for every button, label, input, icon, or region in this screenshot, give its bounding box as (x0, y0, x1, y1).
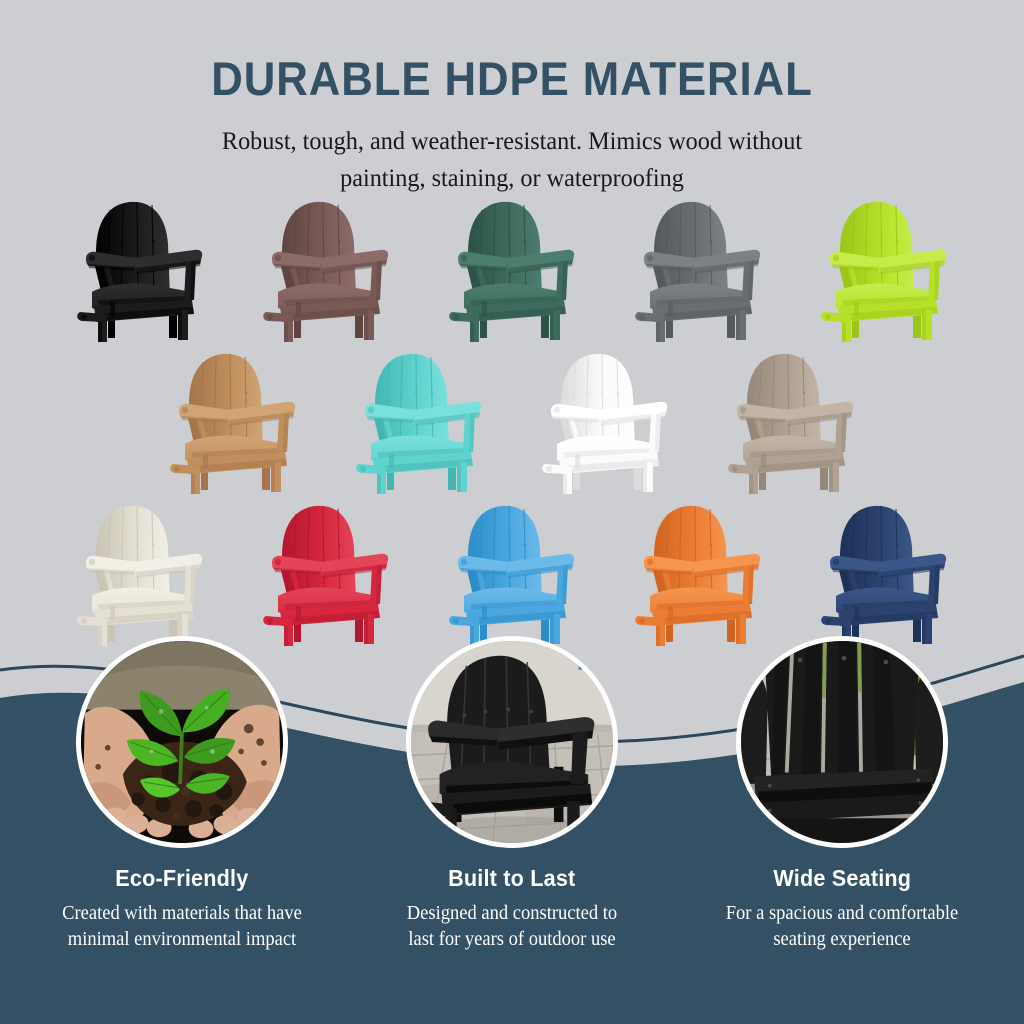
feature-description: For a spacious and comfortableseating ex… (700, 901, 985, 953)
feature-image-circle (406, 636, 618, 848)
chair-graphic-lime-green (818, 196, 950, 344)
feature-description: Designed and constructed tolast for year… (370, 901, 655, 953)
page-subtitle: Robust, tough, and weather-resistant. Mi… (26, 123, 999, 195)
feature-image-circle (736, 636, 948, 848)
chair-graphic-black (74, 196, 206, 344)
feature-title: Wide Seating (773, 865, 911, 892)
chair-graphic-red (260, 500, 392, 648)
chair-row-3 (0, 500, 1024, 648)
seedling-in-hands-illustration (81, 641, 283, 843)
subtitle-line-1: Robust, tough, and weather-resistant. Mi… (26, 123, 999, 159)
chair-row-1 (0, 196, 1024, 344)
feature-list: Eco-FriendlyCreated with materials that … (0, 636, 1024, 953)
chair-swatch-orange[interactable] (605, 500, 791, 648)
feature-built-to-last: Built to LastDesigned and constructed to… (368, 636, 656, 953)
infographic-poster: DURABLE HDPE MATERIAL Robust, tough, and… (0, 0, 1024, 1024)
chair-swatch-black[interactable] (47, 196, 233, 344)
feature-desc-line-1: For a spacious and comfortable (700, 901, 985, 927)
chair-graphic-dark-green (446, 196, 578, 344)
chair-graphic-ivory (74, 500, 206, 648)
chair-graphic-blue (446, 500, 578, 648)
chair-swatch-dark-brown[interactable] (233, 196, 419, 344)
feature-desc-line-2: minimal environmental impact (40, 927, 325, 953)
chair-swatch-weathered-wood[interactable] (698, 348, 884, 496)
chair-graphic-navy-blue (818, 500, 950, 648)
feature-title: Built to Last (448, 865, 575, 892)
feature-title: Eco-Friendly (115, 865, 248, 892)
chair-graphic-turquoise (353, 348, 485, 496)
chair-swatch-blue[interactable] (419, 500, 605, 648)
header: DURABLE HDPE MATERIAL Robust, tough, and… (0, 0, 1024, 196)
feature-image-circle (76, 636, 288, 848)
chair-row-2 (0, 348, 1024, 496)
chair-graphic-orange (632, 500, 764, 648)
chair-swatch-gray[interactable] (605, 196, 791, 344)
feature-desc-line-1: Designed and constructed to (370, 901, 655, 927)
feature-desc-line-1: Created with materials that have (40, 901, 325, 927)
chair-swatch-red[interactable] (233, 500, 419, 648)
chair-swatch-ivory[interactable] (47, 500, 233, 648)
chair-swatch-white[interactable] (512, 348, 698, 496)
chair-graphic-white (539, 348, 671, 496)
feature-eco-friendly: Eco-FriendlyCreated with materials that … (38, 636, 326, 953)
feature-desc-line-2: seating experience (700, 927, 985, 953)
chair-graphic-weathered-wood (725, 348, 857, 496)
chair-graphic-dark-brown (260, 196, 392, 344)
chair-wide-seat-illustration (741, 641, 943, 843)
feature-description: Created with materials that haveminimal … (40, 901, 325, 953)
chair-graphic-gray (632, 196, 764, 344)
chair-swatch-navy-blue[interactable] (791, 500, 977, 648)
chair-color-grid (0, 196, 1024, 648)
feature-desc-line-2: last for years of outdoor use (370, 927, 655, 953)
subtitle-line-2: painting, staining, or waterproofing (26, 160, 999, 196)
page-title: DURABLE HDPE MATERIAL (36, 54, 988, 103)
chair-swatch-teak[interactable] (140, 348, 326, 496)
chair-swatch-dark-green[interactable] (419, 196, 605, 344)
chair-graphic-teak (167, 348, 299, 496)
chair-swatch-lime-green[interactable] (791, 196, 977, 344)
chair-swatch-turquoise[interactable] (326, 348, 512, 496)
black-chair-patio-illustration (411, 641, 613, 843)
feature-wide-seating: Wide SeatingFor a spacious and comfortab… (698, 636, 986, 953)
